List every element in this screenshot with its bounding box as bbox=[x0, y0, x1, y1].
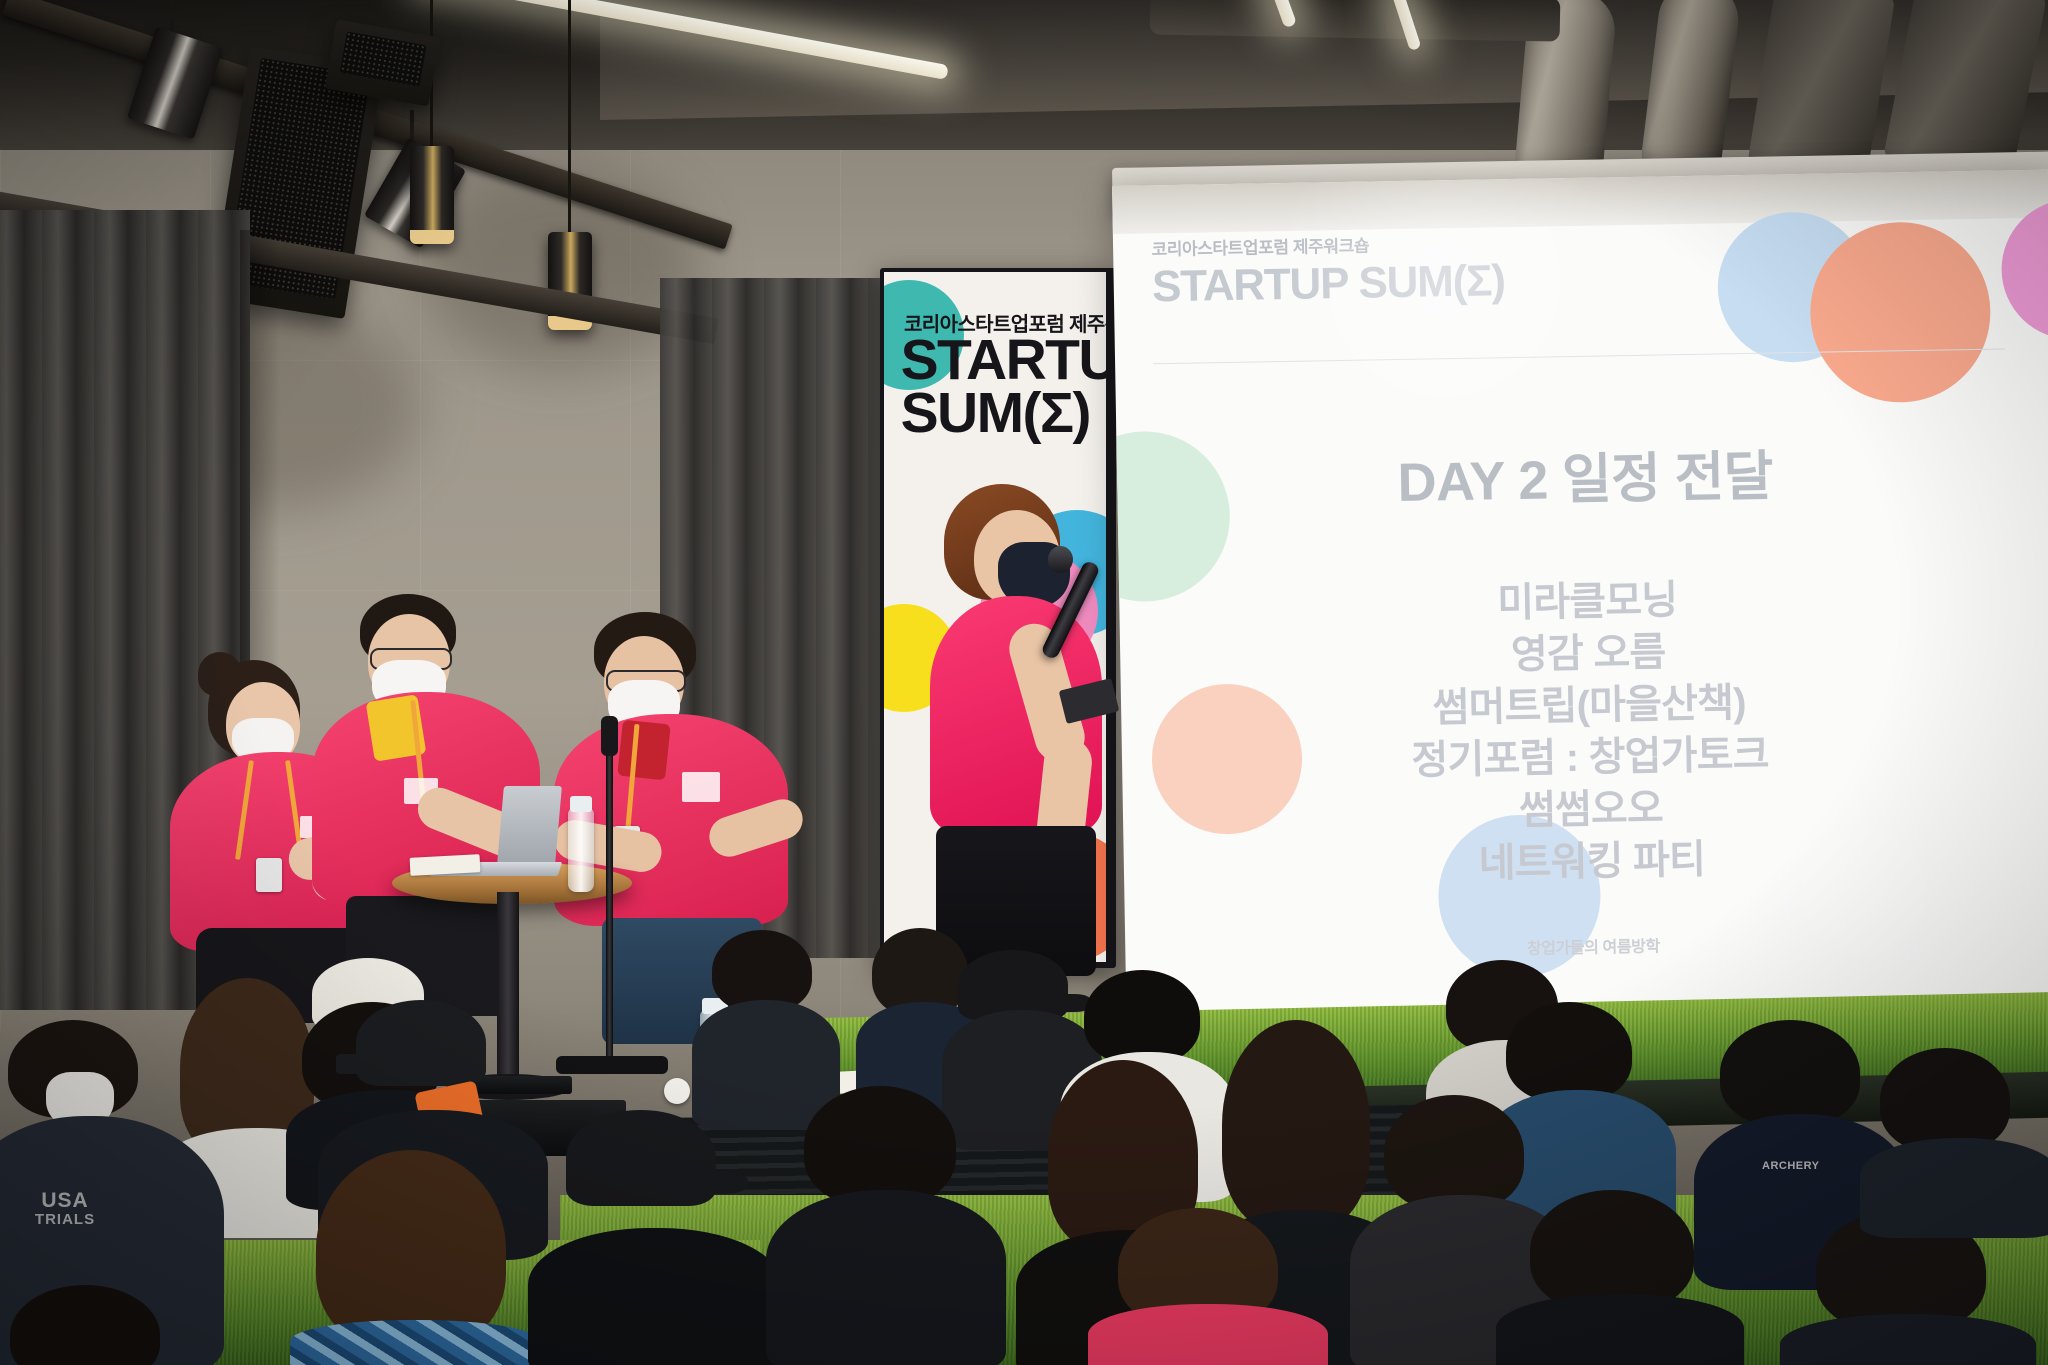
hair bbox=[1084, 970, 1200, 1064]
audience-member bbox=[540, 1110, 770, 1365]
pendant-glow-1 bbox=[410, 230, 454, 244]
torso bbox=[1496, 1294, 1744, 1365]
hair bbox=[1880, 1048, 2010, 1152]
slide-brand-title: STARTUP SUM(Σ) bbox=[1152, 256, 1505, 312]
paper-sheet-table bbox=[410, 854, 481, 876]
torso bbox=[1780, 1314, 2036, 1365]
banner-title-line2: SUM(Σ) bbox=[901, 387, 1106, 440]
slide-header: 코리아스타트업포럼 제주워크숍 STARTUP SUM(Σ) bbox=[1151, 229, 1505, 312]
hair bbox=[1506, 1002, 1632, 1102]
hair bbox=[10, 1285, 160, 1365]
hair-bun bbox=[198, 652, 242, 696]
neck-scarf-red bbox=[617, 720, 671, 781]
water-bottle-cap bbox=[570, 796, 592, 812]
torso bbox=[766, 1190, 1006, 1365]
microphone-stand-base bbox=[556, 1056, 668, 1074]
polo-logo-text: ARCHERY bbox=[1762, 1160, 1820, 1172]
hair bbox=[1720, 1020, 1860, 1126]
torso bbox=[528, 1228, 782, 1365]
microphone-head bbox=[1048, 546, 1073, 573]
presentation-slide: 코리아스타트업포럼 제주워크숍 STARTUP SUM(Σ) DAY 2 일정 … bbox=[1112, 170, 2048, 1016]
audience-member bbox=[290, 1150, 550, 1365]
torso-blue-pattern bbox=[290, 1320, 540, 1365]
name-badge bbox=[256, 858, 282, 892]
audience-member bbox=[1506, 1190, 1726, 1365]
event-photo-scene: 코리아스타트업포럼 제주워크숍 STARTUP SUM(Σ) 코리아스타트업포럼… bbox=[0, 0, 2048, 1365]
hair bbox=[804, 1086, 956, 1206]
torso-pink bbox=[1088, 1304, 1328, 1365]
audience-member bbox=[1866, 1048, 2048, 1228]
black-cap bbox=[356, 1000, 486, 1086]
pendant-light-1 bbox=[410, 146, 454, 244]
presenter-with-microphone bbox=[930, 484, 1120, 974]
slide-agenda-list: 미라클모닝 영감 오름 썸머트립(마을산책) 정기포럼 : 창업가토크 썸썸오오… bbox=[1119, 568, 2048, 896]
audience-member bbox=[1094, 1208, 1314, 1365]
banner-title: STARTUP SUM(Σ) bbox=[901, 334, 1106, 440]
projection-screen: 코리아스타트업포럼 제주워크숍 STARTUP SUM(Σ) DAY 2 일정 … bbox=[1112, 170, 2048, 1016]
cap-brim bbox=[336, 1054, 386, 1074]
pendant-wire-2 bbox=[568, 0, 571, 238]
slide-dot-salmon-top bbox=[1809, 221, 1992, 404]
audience-member bbox=[780, 1086, 990, 1365]
water-bottle-table bbox=[568, 808, 594, 892]
ceiling-beam-right bbox=[1150, 0, 1561, 42]
slide-kicker: 코리아스타트업포럼 제주워크숍 bbox=[1151, 229, 1504, 260]
audience-member bbox=[0, 1285, 180, 1365]
microphone-clip bbox=[601, 716, 618, 756]
banner-title-line1: STARTUP bbox=[901, 334, 1106, 387]
tshirt-text-line1: USA bbox=[0, 1190, 140, 1212]
tshirt-text: USA TRIALS bbox=[0, 1190, 140, 1228]
baseball-ball-turf bbox=[664, 1078, 690, 1104]
slide-title: DAY 2 일정 전달 bbox=[1116, 427, 2048, 522]
pa-speaker-top-grill bbox=[340, 31, 427, 86]
torso bbox=[1860, 1138, 2048, 1238]
hair bbox=[1384, 1095, 1524, 1211]
tshirt-text-line2: TRIALS bbox=[0, 1212, 140, 1228]
cap-brim bbox=[690, 1172, 748, 1194]
microphone-stand-pole bbox=[606, 740, 613, 1070]
slide-dot-magenta bbox=[2000, 198, 2048, 340]
shirt-logo bbox=[682, 772, 720, 802]
hair-long bbox=[1222, 1020, 1370, 1230]
